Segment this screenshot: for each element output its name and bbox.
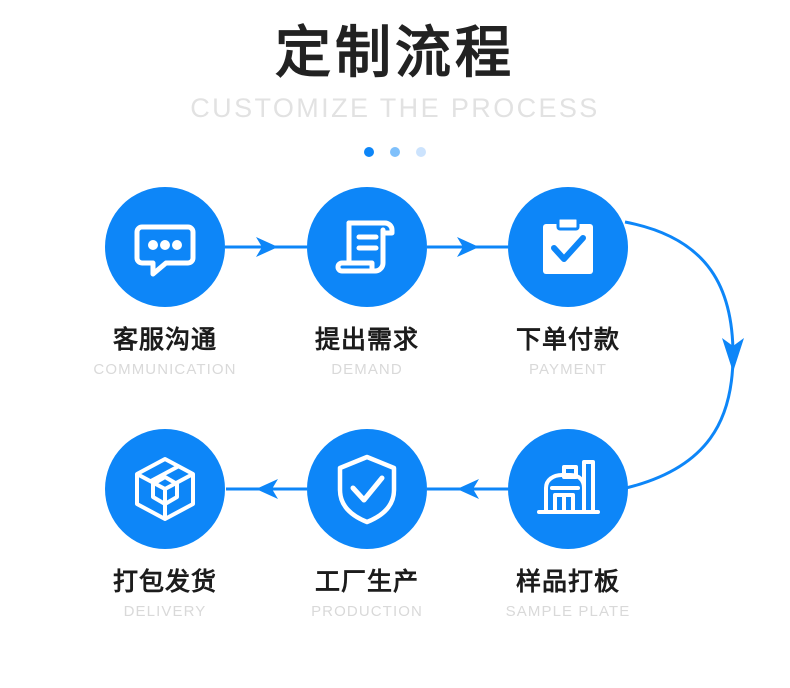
- page-title: 定制流程: [0, 0, 790, 86]
- step-demand-circle[interactable]: [307, 187, 427, 307]
- step-communication[interactable]: 客服沟通 COMMUNICATION: [65, 187, 265, 379]
- step-production-label: 工厂生产: [267, 549, 467, 597]
- step-production-caption: PRODUCTION: [267, 597, 467, 621]
- step-demand-label: 提出需求: [267, 307, 467, 355]
- pager-dots: [0, 147, 790, 157]
- step-demand[interactable]: 提出需求 DEMAND: [267, 187, 467, 379]
- step-sample-plate-circle[interactable]: [508, 429, 628, 549]
- step-communication-circle[interactable]: [105, 187, 225, 307]
- step-payment-circle[interactable]: [508, 187, 628, 307]
- step-delivery-label: 打包发货: [65, 549, 265, 597]
- page-subtitle: CUSTOMIZE THE PROCESS: [0, 86, 790, 124]
- step-sample-plate[interactable]: 样品打板 SAMPLE PLATE: [468, 429, 668, 621]
- scroll-document-icon: [331, 211, 403, 283]
- step-payment-label: 下单付款: [468, 307, 668, 355]
- pager-dot-3: [416, 147, 426, 157]
- step-production-circle[interactable]: [307, 429, 427, 549]
- step-demand-caption: DEMAND: [267, 355, 467, 379]
- package-box-icon: [129, 453, 201, 525]
- step-sample-plate-caption: SAMPLE PLATE: [468, 597, 668, 621]
- step-sample-plate-label: 样品打板: [468, 549, 668, 597]
- customize-process-infographic: 定制流程 CUSTOMIZE THE PROCESS: [0, 0, 790, 688]
- header: 定制流程 CUSTOMIZE THE PROCESS: [0, 0, 790, 124]
- factory-icon: [532, 454, 604, 524]
- step-payment[interactable]: 下单付款 PAYMENT: [468, 187, 668, 379]
- step-delivery-caption: DELIVERY: [65, 597, 265, 621]
- step-delivery-circle[interactable]: [105, 429, 225, 549]
- step-communication-label: 客服沟通: [65, 307, 265, 355]
- step-payment-caption: PAYMENT: [468, 355, 668, 379]
- chat-bubble-icon: [129, 211, 201, 283]
- clipboard-check-icon: [533, 212, 603, 282]
- pager-dot-1: [364, 147, 374, 157]
- step-communication-caption: COMMUNICATION: [65, 355, 265, 379]
- shield-check-icon: [332, 452, 402, 526]
- step-delivery[interactable]: 打包发货 DELIVERY: [65, 429, 265, 621]
- step-production[interactable]: 工厂生产 PRODUCTION: [267, 429, 467, 621]
- pager-dot-2: [390, 147, 400, 157]
